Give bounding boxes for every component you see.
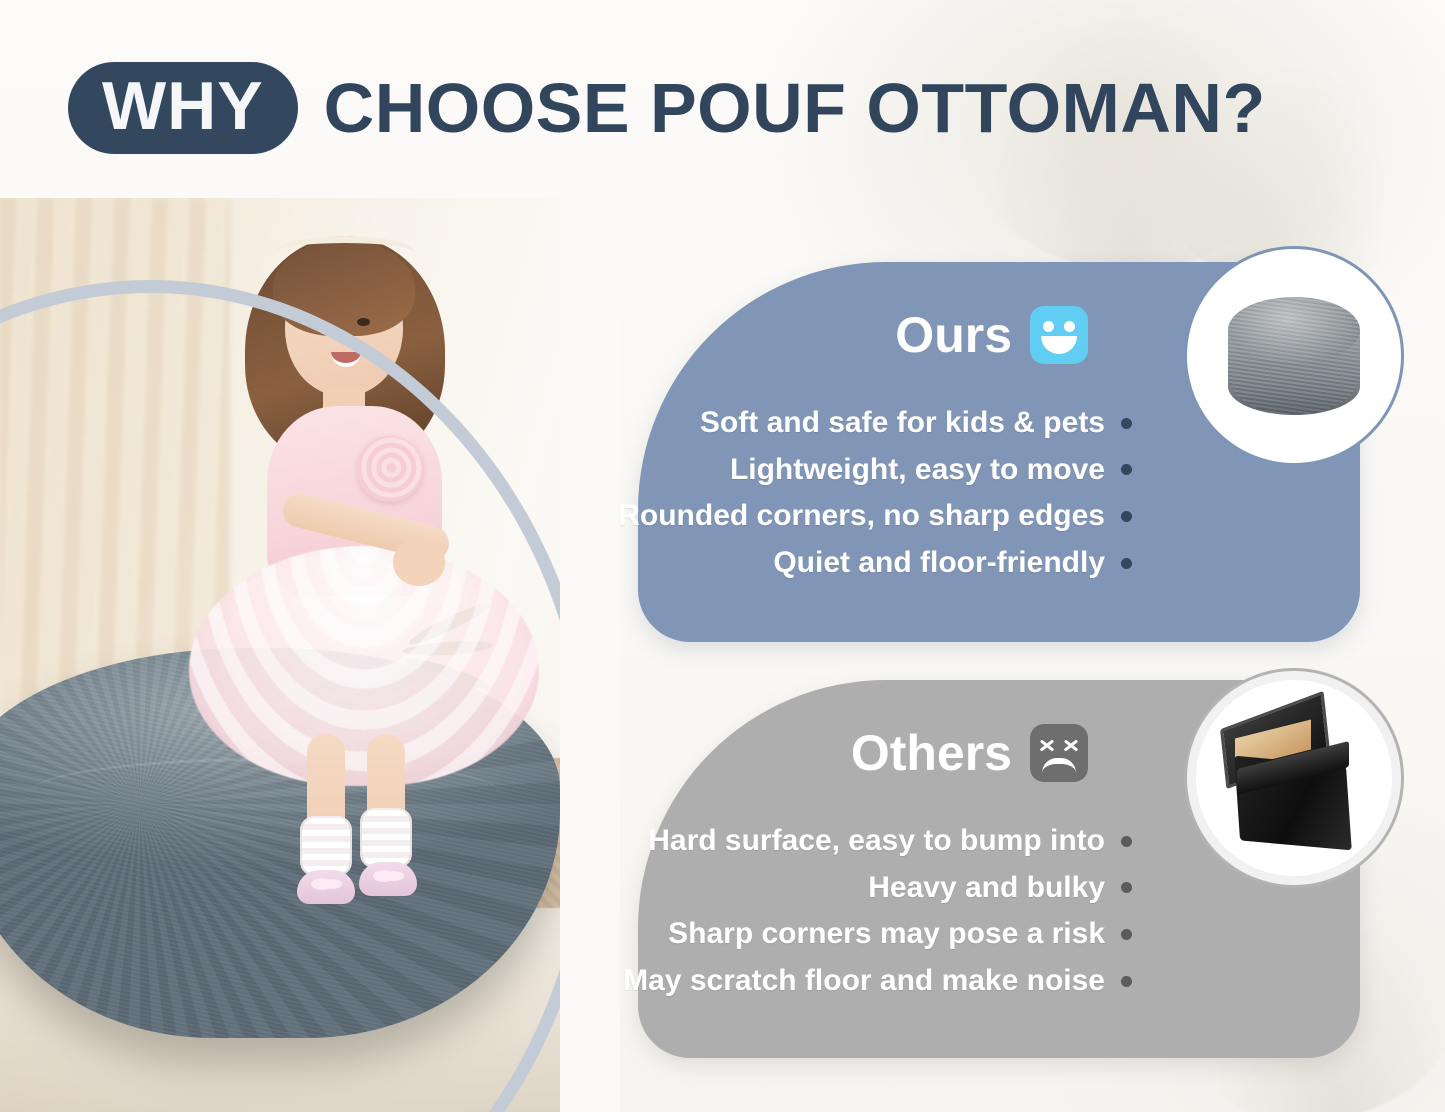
sock-right xyxy=(362,810,410,866)
photo-background xyxy=(0,198,620,1112)
tulle-skirt xyxy=(189,546,539,786)
dress-rosette xyxy=(357,436,423,502)
list-item: Hard surface, easy to bump into xyxy=(660,820,1132,863)
eye-left xyxy=(311,318,324,326)
bullet-dot-icon xyxy=(1121,558,1132,569)
page-title: WHY CHOOSE POUF OTTOMAN? xyxy=(68,62,1266,154)
panel-title-others: Others xyxy=(851,728,1012,778)
bullet-dot-icon xyxy=(1121,511,1132,522)
happy-face-icon xyxy=(1030,306,1088,364)
bullet-text: May scratch floor and make noise xyxy=(623,960,1105,1003)
panel-header-ours: Ours xyxy=(895,306,1088,364)
list-item: Rounded corners, no sharp edges xyxy=(660,495,1132,538)
bullet-text: Sharp corners may pose a risk xyxy=(668,913,1105,956)
bullet-text: Quiet and floor-friendly xyxy=(773,542,1105,585)
bullet-text: Rounded corners, no sharp edges xyxy=(618,495,1105,538)
list-item: Soft and safe for kids & pets xyxy=(660,402,1132,445)
pearl-headband xyxy=(275,236,415,270)
round-grey-pouf-ottoman-image xyxy=(1228,297,1360,415)
bullet-dot-icon xyxy=(1121,836,1132,847)
list-item: Sharp corners may pose a risk xyxy=(660,913,1132,956)
hands xyxy=(393,540,445,586)
shoe-bow-right xyxy=(373,870,395,882)
panel-header-others: Others xyxy=(851,724,1088,782)
product-thumbnail-others xyxy=(1196,680,1392,876)
bullet-dot-icon xyxy=(1121,976,1132,987)
list-item: Quiet and floor-friendly xyxy=(660,542,1132,585)
sock-left xyxy=(302,818,350,874)
list-item: May scratch floor and make noise xyxy=(660,960,1132,1003)
eye-right xyxy=(357,318,370,326)
bullet-dot-icon xyxy=(1121,929,1132,940)
bullet-dot-icon xyxy=(1121,418,1132,429)
bullet-text: Lightweight, easy to move xyxy=(730,449,1105,492)
drawback-list-others: Hard surface, easy to bump into Heavy an… xyxy=(660,820,1132,1002)
bullet-dot-icon xyxy=(1121,882,1132,893)
bullet-text: Soft and safe for kids & pets xyxy=(700,402,1105,445)
lifestyle-photo xyxy=(0,198,620,1112)
why-badge: WHY xyxy=(68,62,298,154)
panel-title-ours: Ours xyxy=(895,310,1012,360)
bullet-dot-icon xyxy=(1121,464,1132,475)
product-thumbnail-ours xyxy=(1196,258,1392,454)
black-square-storage-ottoman-image xyxy=(1219,703,1369,853)
title-text: CHOOSE POUF OTTOMAN? xyxy=(324,73,1266,143)
list-item: Lightweight, easy to move xyxy=(660,449,1132,492)
benefit-list-ours: Soft and safe for kids & pets Lightweigh… xyxy=(660,402,1132,584)
squinting-sad-face-icon xyxy=(1030,724,1088,782)
bullet-text: Heavy and bulky xyxy=(868,867,1105,910)
shoe-bow-left xyxy=(311,878,333,890)
bullet-text: Hard surface, easy to bump into xyxy=(648,820,1105,863)
photo-edge-mask xyxy=(560,198,620,1112)
child-model xyxy=(215,210,515,870)
list-item: Heavy and bulky xyxy=(660,867,1132,910)
